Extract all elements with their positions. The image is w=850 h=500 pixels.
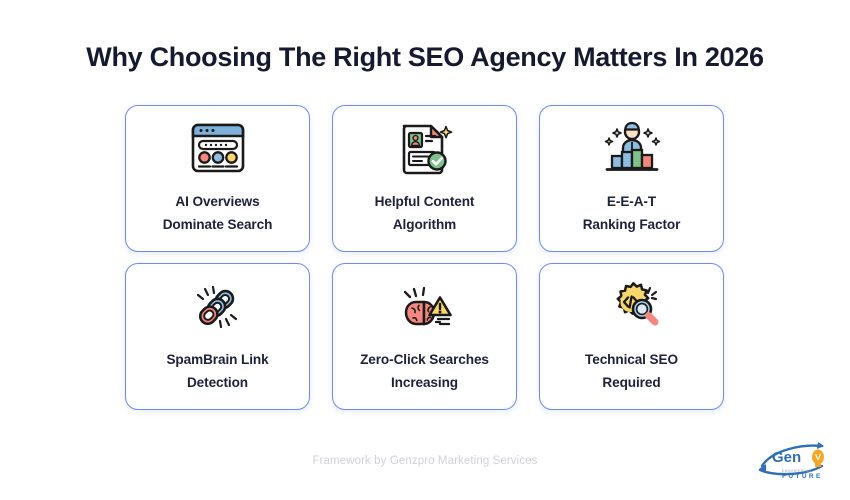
card-label: SpamBrain Link Detection xyxy=(166,348,268,395)
card-zero-click[interactable]: Zero-Click Searches Increasing xyxy=(332,263,517,410)
broken-chain-link-icon xyxy=(183,275,253,339)
card-helpful-content[interactable]: Helpful Content Algorithm xyxy=(332,105,517,252)
card-label: Zero-Click Searches Increasing xyxy=(360,348,489,395)
card-label: E-E-A-T Ranking Factor xyxy=(583,190,681,237)
card-spambrain-link[interactable]: SpamBrain Link Detection xyxy=(125,263,310,410)
card-ai-overviews[interactable]: AI Overviews Dominate Search xyxy=(125,105,310,252)
logo-name: Gen xyxy=(772,449,801,466)
card-label: Helpful Content Algorithm xyxy=(375,190,475,237)
card-label: AI Overviews Dominate Search xyxy=(163,190,273,237)
card-eeat-ranking[interactable]: E-E-A-T Ranking Factor xyxy=(539,105,724,252)
browser-search-window-icon xyxy=(183,117,253,181)
page-title: Why Choosing The Right SEO Agency Matter… xyxy=(0,42,850,73)
card-technical-seo[interactable]: Technical SEO Required xyxy=(539,263,724,410)
brain-warning-icon xyxy=(390,275,460,339)
infographic-page: Why Choosing The Right SEO Agency Matter… xyxy=(0,0,850,500)
footer-attribution: Framework by Genzpro Marketing Services xyxy=(0,455,850,467)
person-podium-bar-chart-icon xyxy=(597,117,667,181)
card-label: Technical SEO Required xyxy=(585,348,678,395)
brand-logo[interactable]: Gen ENGINEERING FUTURE xyxy=(756,436,840,482)
cards-grid: AI Overviews Dominate Search xyxy=(125,105,725,410)
document-verified-icon xyxy=(390,117,460,181)
gear-code-magnifier-icon xyxy=(597,275,667,339)
logo-tagline: FUTURE xyxy=(782,473,823,480)
